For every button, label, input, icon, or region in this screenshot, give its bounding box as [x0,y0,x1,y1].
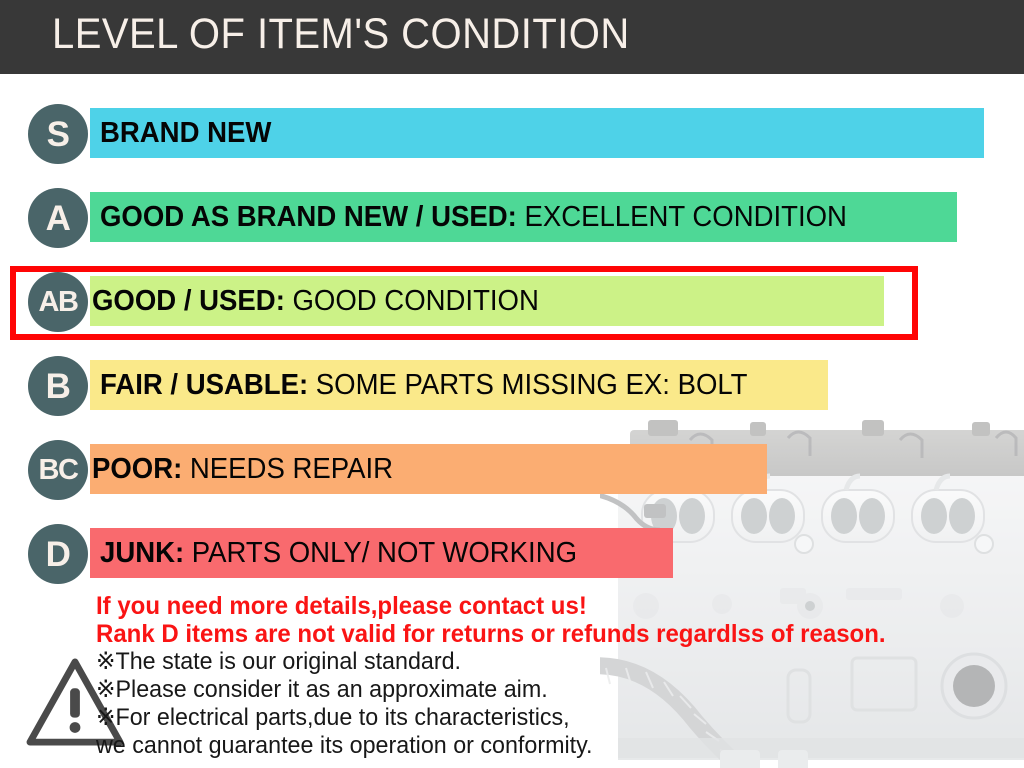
rank-label-lead: BRAND NEW [100,117,271,150]
rank-label: BRAND NEW [100,110,271,156]
rank-label-tail: SOME PARTS MISSING EX: BOLT [316,369,748,402]
rank-badge-s: S [28,104,88,164]
rank-label-tail: GOOD CONDITION [292,285,538,318]
rank-label-tail: NEEDS REPAIR [190,453,393,486]
rank-label-lead: GOOD / USED: [92,285,285,318]
rank-row: BCPOOR:NEEDS REPAIR [0,440,1024,504]
rank-label: GOOD / USED:GOOD CONDITION [92,278,539,324]
rank-badge-ab: AB [28,272,88,332]
page-title: LEVEL OF ITEM'S CONDITION [52,10,630,59]
rank-row: AGOOD AS BRAND NEW / USED:EXCELLENT COND… [0,188,1024,252]
rank-label: FAIR / USABLE:SOME PARTS MISSING EX: BOL… [100,362,747,408]
rank-label: GOOD AS BRAND NEW / USED:EXCELLENT CONDI… [100,194,847,240]
rank-label-tail: PARTS ONLY/ NOT WORKING [192,537,577,570]
rank-row: DJUNK:PARTS ONLY/ NOT WORKING [0,524,1024,588]
note-red-line: If you need more details,please contact … [96,592,979,620]
rank-badge-bc: BC [28,440,88,500]
rank-label: JUNK:PARTS ONLY/ NOT WORKING [100,530,577,576]
note-red-line: Rank D items are not valid for returns o… [96,620,979,648]
note-black-line: ※The state is our original standard. [96,648,988,676]
rank-label-lead: POOR: [92,453,182,486]
rank-label-lead: JUNK: [100,537,184,570]
rank-row: BFAIR / USABLE:SOME PARTS MISSING EX: BO… [0,356,1024,420]
header-divider [0,74,1024,77]
condition-chart-page: LEVEL OF ITEM'S CONDITION SBRAND NEWAGOO… [0,0,1024,768]
note-black-line: ※For electrical parts,due to its charact… [96,704,988,732]
rank-label: POOR:NEEDS REPAIR [92,446,393,492]
notes-block: If you need more details,please contact … [96,592,1016,760]
note-black-line: ※Please consider it as an approximate ai… [96,676,988,704]
rank-label-lead: FAIR / USABLE: [100,369,308,402]
rank-row: SBRAND NEW [0,104,1024,168]
note-black-line: we cannot guarantee its operation or con… [96,732,988,760]
rank-row: ABGOOD / USED:GOOD CONDITION [0,272,1024,336]
rank-badge-a: A [28,188,88,248]
rank-label-tail: EXCELLENT CONDITION [524,201,847,234]
rank-badge-b: B [28,356,88,416]
rank-label-lead: GOOD AS BRAND NEW / USED: [100,201,517,234]
rank-badge-d: D [28,524,88,584]
page-header: LEVEL OF ITEM'S CONDITION [0,0,1024,74]
